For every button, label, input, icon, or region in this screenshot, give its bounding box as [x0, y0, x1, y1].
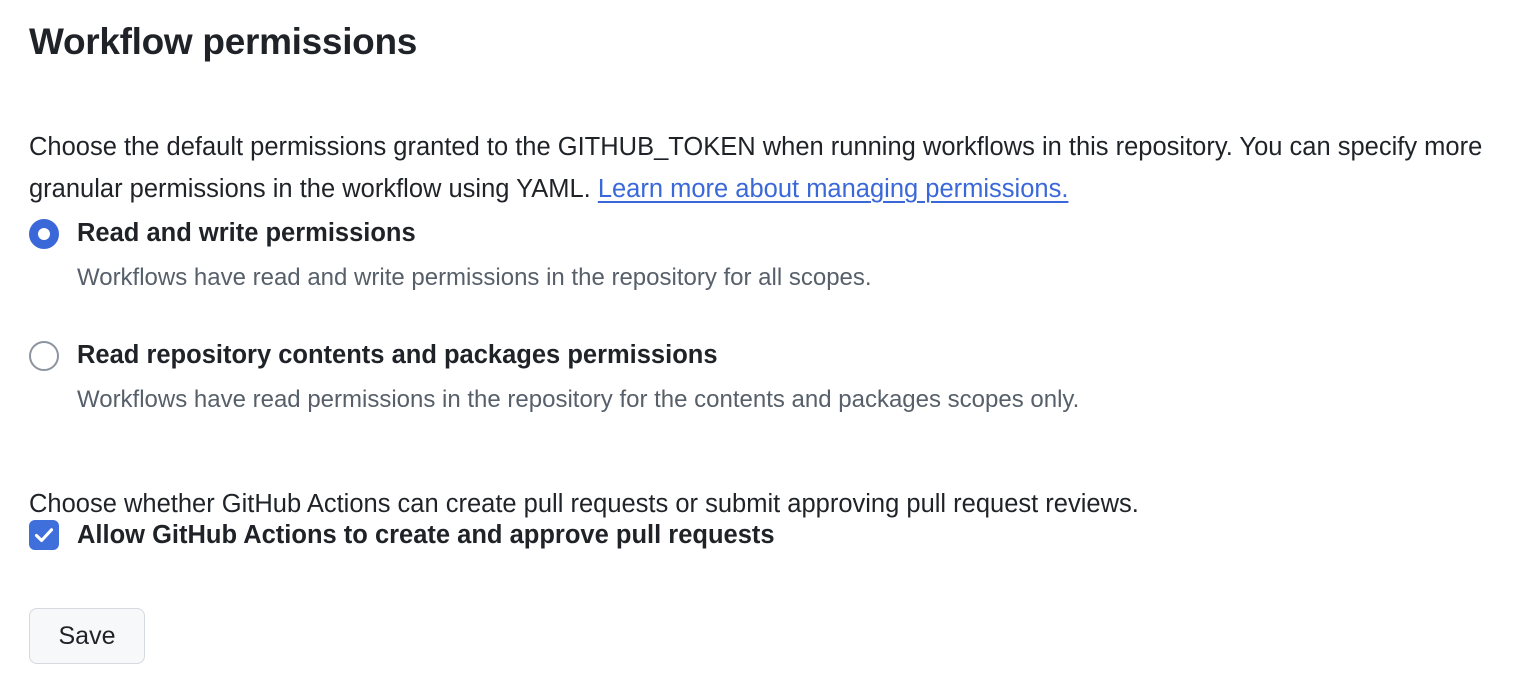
radio-read-repository-contents-and-packages[interactable] [29, 341, 59, 371]
radio-row[interactable]: Read repository contents and packages pe… [29, 338, 1509, 372]
workflow-permissions-settings-panel: Workflow permissions Choose the default … [0, 0, 1540, 678]
radio-help-read-repository-contents-and-packages: Workflows have read permissions in the r… [77, 384, 1509, 416]
page-title: Workflow permissions [29, 19, 417, 65]
save-button[interactable]: Save [29, 608, 145, 664]
checkmark-icon [33, 524, 55, 546]
pull-request-prompt: Choose whether GitHub Actions can create… [29, 487, 1139, 521]
section-description: Choose the default permissions granted t… [29, 126, 1519, 210]
radio-row[interactable]: Read and write permissions [29, 216, 1509, 250]
radio-label-read-and-write[interactable]: Read and write permissions [77, 216, 416, 250]
permission-option-read-write: Read and write permissions Workflows hav… [29, 216, 1509, 294]
permission-option-read-contents-packages: Read repository contents and packages pe… [29, 338, 1509, 416]
checkbox-allow-actions-create-approve-pr[interactable] [29, 520, 59, 550]
allow-actions-create-approve-pr-row[interactable]: Allow GitHub Actions to create and appro… [29, 518, 775, 552]
checkbox-label-allow-actions-create-approve-pr[interactable]: Allow GitHub Actions to create and appro… [77, 518, 775, 552]
radio-read-and-write[interactable] [29, 219, 59, 249]
learn-more-link[interactable]: Learn more about managing permissions. [598, 175, 1069, 203]
permissions-radio-group: Read and write permissions Workflows hav… [29, 216, 1509, 416]
radio-label-read-repository-contents-and-packages[interactable]: Read repository contents and packages pe… [77, 338, 718, 372]
radio-help-read-and-write: Workflows have read and write permission… [77, 262, 1509, 294]
